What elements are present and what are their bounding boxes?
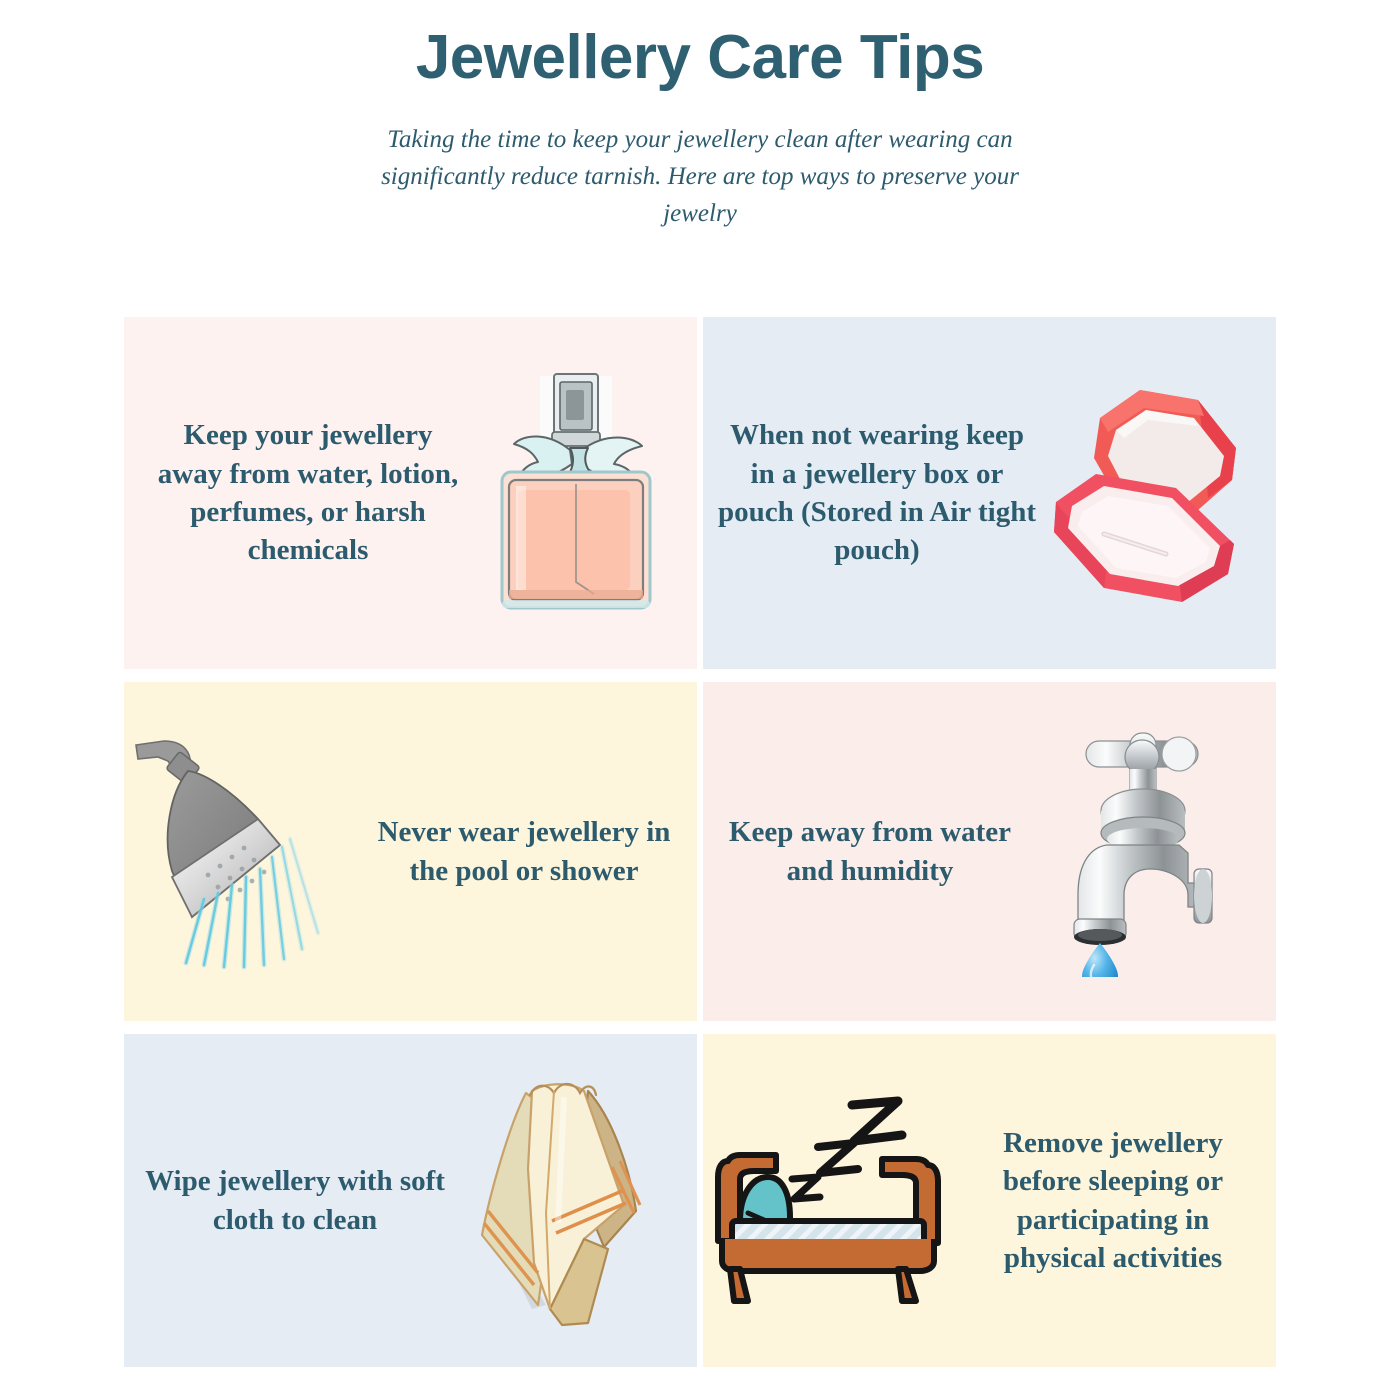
card-text: Remove jewellery before sleeping or part… bbox=[966, 1124, 1276, 1277]
page-title: Jewellery Care Tips bbox=[0, 22, 1400, 93]
card-text: Keep away from water and humidity bbox=[703, 813, 1023, 890]
shower-head-icon bbox=[124, 727, 374, 977]
faucet-drip-icon bbox=[1023, 727, 1263, 977]
ring-box-icon bbox=[1043, 376, 1258, 611]
card-jewellery-box: When not wearing keep in a jewellery box… bbox=[703, 317, 1276, 669]
card-water-humidity: Keep away from water and humidity bbox=[703, 682, 1276, 1021]
card-text: Wipe jewellery with soft cloth to clean bbox=[124, 1162, 454, 1239]
page-subtitle: Taking the time to keep your jewellery c… bbox=[380, 121, 1020, 232]
card-text: Keep your jewellery away from water, lot… bbox=[124, 416, 474, 569]
card-pool-shower: Never wear jewellery in the pool or show… bbox=[124, 682, 697, 1021]
tips-grid: Keep your jewellery away from water, lot… bbox=[124, 317, 1276, 1367]
card-text: When not wearing keep in a jewellery box… bbox=[703, 416, 1043, 569]
card-text: Never wear jewellery in the pool or show… bbox=[377, 813, 697, 890]
card-soft-cloth: Wipe jewellery with soft cloth to clean bbox=[124, 1034, 697, 1367]
infographic-page: Jewellery Care Tips Taking the time to k… bbox=[0, 0, 1400, 1400]
bed-sleep-icon bbox=[703, 1093, 966, 1308]
cleaning-cloth-icon bbox=[454, 1073, 684, 1328]
card-water-lotion-perfume: Keep your jewellery away from water, lot… bbox=[124, 317, 697, 669]
header: Jewellery Care Tips Taking the time to k… bbox=[0, 0, 1400, 232]
card-remove-before-sleep: Remove jewellery before sleeping or part… bbox=[703, 1034, 1276, 1367]
perfume-bottle-icon bbox=[474, 368, 674, 618]
